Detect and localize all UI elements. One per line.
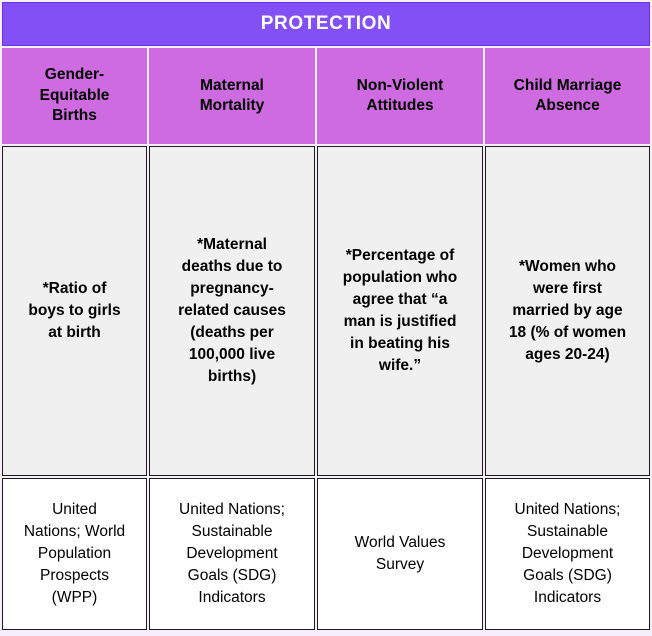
- column-header-maternal-mortality: Maternal Mortality: [149, 48, 315, 144]
- source-text: United Nations; Sustainable Development …: [494, 499, 641, 609]
- column-header-gender-equitable-births: Gender- Equitable Births: [2, 48, 147, 144]
- table-banner-row: PROTECTION: [2, 2, 650, 46]
- definition-text: *Maternal deaths due to pregnancy- relat…: [158, 234, 306, 388]
- protection-indicators-table: PROTECTION Gender- Equitable Births Mate…: [0, 0, 652, 632]
- column-header-label: Gender- Equitable Births: [9, 65, 140, 126]
- definition-text: *Women who were first married by age 18 …: [494, 256, 641, 366]
- definition-maternal-mortality: *Maternal deaths due to pregnancy- relat…: [149, 146, 315, 476]
- banner-title: PROTECTION: [2, 2, 650, 46]
- table-source-row: United Nations; World Population Prospec…: [2, 478, 650, 630]
- banner-title-text: PROTECTION: [7, 13, 645, 35]
- definition-child-marriage-absence: *Women who were first married by age 18 …: [485, 146, 650, 476]
- source-maternal-mortality: United Nations; Sustainable Development …: [149, 478, 315, 630]
- source-text: United Nations; World Population Prospec…: [11, 499, 138, 609]
- source-child-marriage-absence: United Nations; Sustainable Development …: [485, 478, 650, 630]
- source-gender-equitable-births: United Nations; World Population Prospec…: [2, 478, 147, 630]
- definition-text: *Percentage of population who agree that…: [326, 245, 474, 377]
- column-header-non-violent-attitudes: Non-Violent Attitudes: [317, 48, 483, 144]
- definition-text: *Ratio of boys to girls at birth: [11, 278, 138, 344]
- table-definition-row: *Ratio of boys to girls at birth *Matern…: [2, 146, 650, 476]
- definition-non-violent-attitudes: *Percentage of population who agree that…: [317, 146, 483, 476]
- source-non-violent-attitudes: World Values Survey: [317, 478, 483, 630]
- column-header-label: Child Marriage Absence: [492, 76, 643, 117]
- column-header-child-marriage-absence: Child Marriage Absence: [485, 48, 650, 144]
- table-column-header-row: Gender- Equitable Births Maternal Mortal…: [2, 48, 650, 144]
- source-text: World Values Survey: [326, 532, 474, 576]
- column-header-label: Non-Violent Attitudes: [324, 76, 476, 117]
- column-header-label: Maternal Mortality: [156, 76, 308, 117]
- source-text: United Nations; Sustainable Development …: [158, 499, 306, 609]
- protection-table-container: PROTECTION Gender- Equitable Births Mate…: [0, 0, 652, 636]
- definition-gender-equitable-births: *Ratio of boys to girls at birth: [2, 146, 147, 476]
